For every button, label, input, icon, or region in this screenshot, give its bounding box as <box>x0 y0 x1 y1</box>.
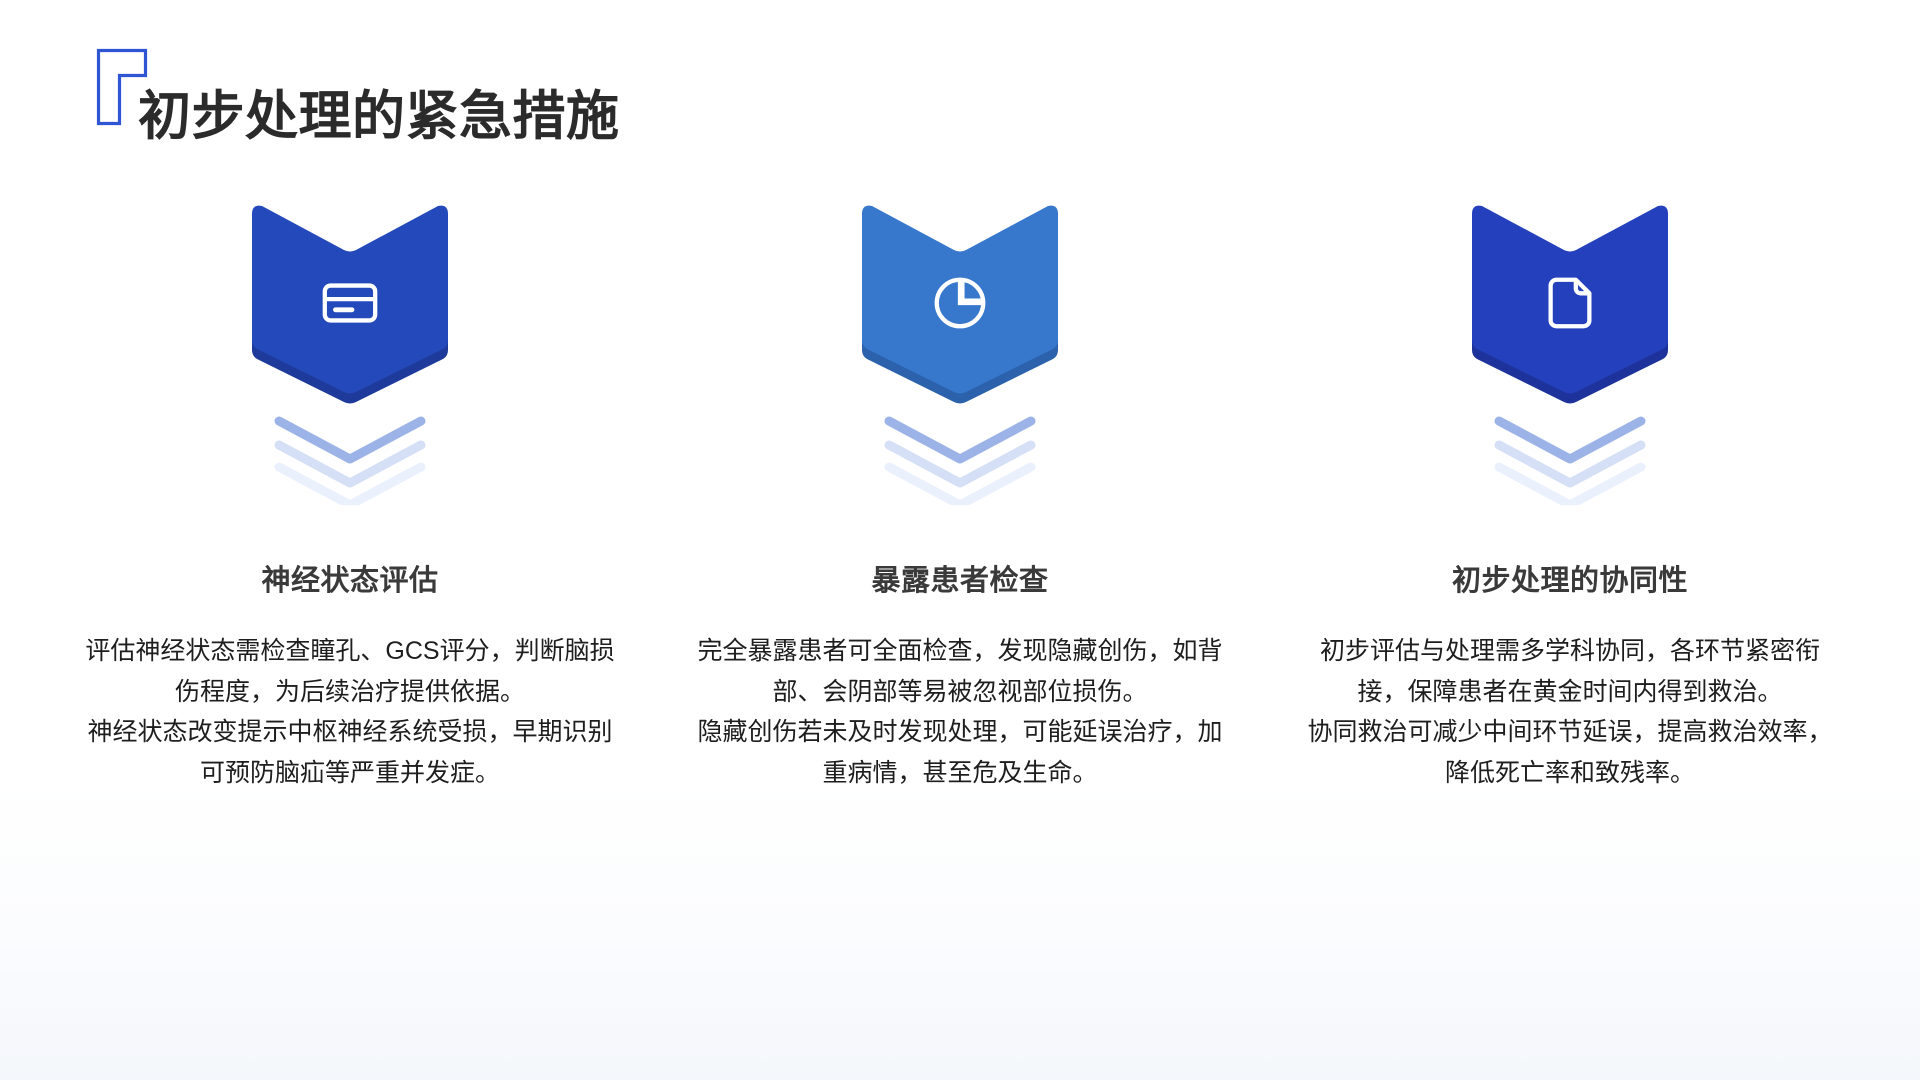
credit-card-icon <box>319 272 381 334</box>
chevron-decoration-1 <box>265 413 435 505</box>
card-columns: 神经状态评估 评估神经状态需检查瞳孔、GCS评分，判断脑损伤程度，为后续治疗提供… <box>60 200 1860 793</box>
card-neurological-assessment: 神经状态评估 评估神经状态需检查瞳孔、GCS评分，判断脑损伤程度，为后续治疗提供… <box>60 200 640 793</box>
card-body-line: 神经状态改变提示中枢神经系统受损，早期识别可预防脑疝等严重并发症。 <box>85 712 615 793</box>
card-body: 完全暴露患者可全面检查，发现隐藏创伤，如背部、会阴部等易被忽视部位损伤。 隐藏创… <box>695 599 1225 793</box>
badge-3 <box>1460 200 1680 405</box>
pie-chart-icon <box>929 272 991 334</box>
card-body: 初步评估与处理需多学科协同，各环节紧密衔接，保障患者在黄金时间内得到救治。 协同… <box>1305 599 1835 793</box>
card-body-line: 初步评估与处理需多学科协同，各环节紧密衔接，保障患者在黄金时间内得到救治。 <box>1320 637 1820 706</box>
card-heading: 暴露患者检查 <box>871 505 1048 599</box>
card-body-line: 评估神经状态需检查瞳孔、GCS评分，判断脑损伤程度，为后续治疗提供依据。 <box>85 637 614 706</box>
card-body: 评估神经状态需检查瞳孔、GCS评分，判断脑损伤程度，为后续治疗提供依据。 神经状… <box>85 599 615 793</box>
title-block: 初步处理的紧急措施 <box>96 40 1196 170</box>
page-title: 初步处理的紧急措施 <box>138 86 620 149</box>
badge-2 <box>850 200 1070 405</box>
card-body-line: 隐藏创伤若未及时发现处理，可能延误治疗，加重病情，甚至危及生命。 <box>695 712 1225 793</box>
card-body-line: 完全暴露患者可全面检查，发现隐藏创伤，如背部、会阴部等易被忽视部位损伤。 <box>697 637 1222 706</box>
document-icon <box>1539 272 1601 334</box>
card-exposure-examination: 暴露患者检查 完全暴露患者可全面检查，发现隐藏创伤，如背部、会阴部等易被忽视部位… <box>670 200 1250 793</box>
chevron-decoration-3 <box>1485 413 1655 505</box>
badge-1 <box>240 200 460 405</box>
card-initial-treatment-coordination: 初步处理的协同性 初步评估与处理需多学科协同，各环节紧密衔接，保障患者在黄金时间… <box>1280 200 1860 793</box>
card-body-line: 协同救治可减少中间环节延误，提高救治效率，降低死亡率和致残率。 <box>1305 712 1835 793</box>
chevron-decoration-2 <box>875 413 1045 505</box>
card-heading: 神经状态评估 <box>261 505 438 599</box>
card-heading: 初步处理的协同性 <box>1452 505 1688 599</box>
slide-root: 初步处理的紧急措施 <box>0 0 1920 1080</box>
